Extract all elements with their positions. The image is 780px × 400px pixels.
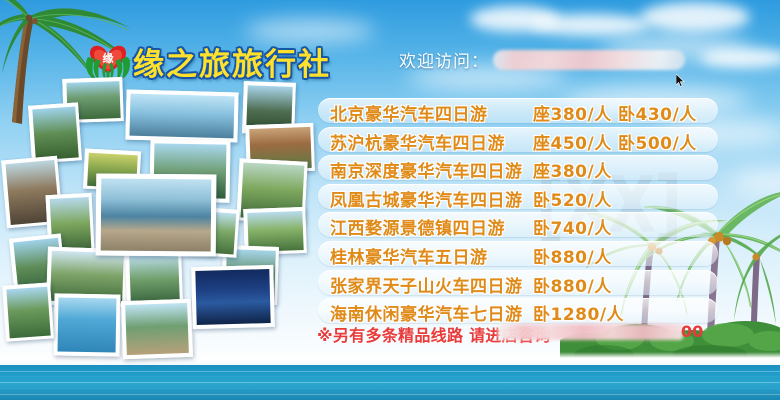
welcome-url-redacted[interactable] xyxy=(493,50,685,70)
destination-label: 江西婺源景德镇四日游 xyxy=(330,214,505,239)
travel-agency-poster: 缘 缘之旅旅行社 欢迎访问： xyxy=(0,0,780,400)
seat-price: 座380/人 xyxy=(533,157,612,182)
price-row[interactable]: 张家界天子山火车四日游 卧880/人 xyxy=(318,270,718,295)
welcome-bar: 欢迎访问： xyxy=(399,47,685,72)
seat-price: 卧880/人 xyxy=(533,272,612,297)
cloud-shape xyxy=(640,2,750,32)
price-row[interactable]: 南京深度豪华汽车四日游 座380/人 xyxy=(318,155,718,180)
welcome-label: 欢迎访问： xyxy=(399,47,489,72)
sleeper-price: 卧500/人 xyxy=(618,129,697,154)
travel-photo-collage xyxy=(0,88,320,360)
destination-label: 北京豪华汽车四日游 xyxy=(330,100,488,125)
logo-char: 缘 xyxy=(103,51,114,65)
seat-price: 卧520/人 xyxy=(533,186,612,211)
destination-label: 苏沪杭豪华汽车四日游 xyxy=(330,129,505,154)
price-row[interactable]: 凤凰古城豪华汽车四日游 卧520/人 xyxy=(318,184,718,209)
sleeper-price: 卧430/人 xyxy=(618,100,697,125)
footer-phone-redacted[interactable] xyxy=(498,324,683,340)
price-list: 北京豪华汽车四日游 座380/人 卧430/人 苏沪杭豪华汽车四日游 座450/… xyxy=(318,98,718,327)
sea-band xyxy=(0,365,780,400)
destination-label: 张家界天子山火车四日游 xyxy=(330,272,523,297)
destination-label: 南京深度豪华汽车四日游 xyxy=(330,157,523,182)
cloud-shape xyxy=(700,48,780,68)
price-row[interactable]: 江西婺源景德镇四日游 卧740/人 xyxy=(318,212,718,237)
price-row[interactable]: 海南休闲豪华汽车七日游 卧1280/人 xyxy=(318,298,718,323)
collage-photo-featured xyxy=(96,173,217,256)
collage-photo xyxy=(53,293,120,356)
collage-photo xyxy=(28,102,82,163)
seat-price: 座380/人 xyxy=(533,100,612,125)
collage-photo xyxy=(121,299,193,359)
price-row[interactable]: 桂林豪华汽车五日游 卧880/人 xyxy=(318,241,718,266)
destination-label: 凤凰古城豪华汽车四日游 xyxy=(330,186,523,211)
brand-name: 缘之旅旅行社 xyxy=(133,39,331,84)
collage-photo xyxy=(191,265,275,329)
price-row[interactable]: 苏沪杭豪华汽车四日游 座450/人 卧500/人 xyxy=(318,127,718,152)
destination-label: 桂林豪华汽车五日游 xyxy=(330,243,488,268)
heart-hands-logo: 缘 xyxy=(84,33,132,83)
seat-price: 卧880/人 xyxy=(533,243,612,268)
price-row[interactable]: 北京豪华汽车四日游 座380/人 卧430/人 xyxy=(318,98,718,123)
collage-photo xyxy=(125,90,238,143)
collage-photo xyxy=(2,282,54,341)
cloud-shape xyxy=(530,14,650,36)
footer-note: ※另有多条精品线路 请进店咨询 00 xyxy=(317,322,551,346)
seat-price: 座450/人 xyxy=(533,129,612,154)
seat-price: 卧740/人 xyxy=(533,214,612,239)
footer-phone-tail: 00 xyxy=(681,322,703,341)
mouse-pointer-icon xyxy=(676,74,685,87)
